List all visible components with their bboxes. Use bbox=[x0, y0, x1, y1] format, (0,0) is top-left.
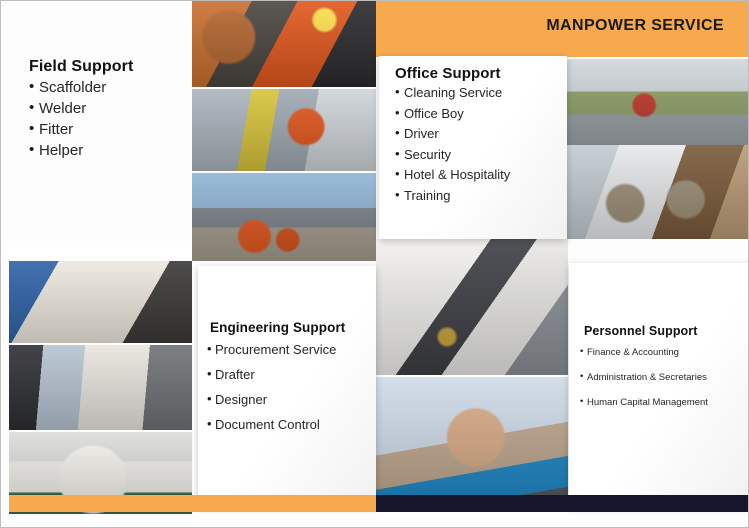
personnel-support-list: Finance & Accounting Administration & Se… bbox=[580, 340, 708, 415]
list-item: Scaffolder bbox=[29, 77, 189, 98]
engineering-support-heading: Engineering Support bbox=[210, 319, 345, 337]
field-support-list: Scaffolder Welder Fitter Helper bbox=[29, 77, 189, 161]
slide-canvas: MANPOWER SERVICE Field Support Scaffolde… bbox=[0, 0, 749, 528]
list-item: Document Control bbox=[207, 412, 345, 437]
photo-engineering-drawing-2 bbox=[9, 345, 192, 430]
photo-personnel-calculator bbox=[376, 377, 568, 514]
photo-personnel-desk bbox=[376, 239, 568, 375]
photo-office-gardener bbox=[561, 59, 749, 155]
photo-field-welding-2 bbox=[192, 89, 376, 171]
footer-bar-orange bbox=[9, 495, 376, 512]
list-item: Drafter bbox=[207, 362, 345, 387]
section-personnel-support: Personnel Support Finance & Accounting A… bbox=[580, 323, 708, 415]
photo-field-welding bbox=[192, 1, 376, 87]
list-item: Welder bbox=[29, 98, 189, 119]
card-office-support: Office Support Cleaning Service Office B… bbox=[379, 56, 567, 239]
list-item: Driver bbox=[395, 124, 510, 145]
gutter-left bbox=[1, 241, 192, 261]
header-banner: MANPOWER SERVICE bbox=[376, 1, 749, 57]
footer-bar-dark bbox=[376, 495, 749, 512]
list-item: Fitter bbox=[29, 119, 189, 140]
card-personnel-support: Personnel Support Finance & Accounting A… bbox=[569, 263, 749, 506]
photo-engineering-drawing-1 bbox=[9, 259, 192, 343]
list-item: Hotel & Hospitality bbox=[395, 165, 510, 186]
section-field-support: Field Support Scaffolder Welder Fitter H… bbox=[29, 57, 189, 161]
page-title: MANPOWER SERVICE bbox=[546, 17, 724, 35]
photo-office-security bbox=[561, 145, 749, 239]
list-item: Finance & Accounting bbox=[580, 340, 708, 365]
personnel-support-heading: Personnel Support bbox=[584, 323, 708, 340]
list-item: Cleaning Service bbox=[395, 83, 510, 104]
list-item: Procurement Service bbox=[207, 337, 345, 362]
engineering-support-list: Procurement Service Drafter Designer Doc… bbox=[207, 337, 345, 437]
list-item: Human Capital Management bbox=[580, 390, 708, 415]
card-engineering-support: Engineering Support Procurement Service … bbox=[198, 266, 376, 506]
list-item: Helper bbox=[29, 140, 189, 161]
office-support-heading: Office Support bbox=[395, 64, 510, 83]
list-item: Administration & Secretaries bbox=[580, 365, 708, 390]
list-item: Security bbox=[395, 145, 510, 166]
office-support-list: Cleaning Service Office Boy Driver Secur… bbox=[395, 83, 510, 206]
field-support-heading: Field Support bbox=[29, 57, 189, 77]
section-engineering-support: Engineering Support Procurement Service … bbox=[207, 319, 345, 437]
list-item: Office Boy bbox=[395, 104, 510, 125]
list-item: Training bbox=[395, 186, 510, 207]
list-item: Designer bbox=[207, 387, 345, 412]
section-office-support: Office Support Cleaning Service Office B… bbox=[395, 64, 510, 206]
photo-field-plant bbox=[192, 173, 376, 261]
